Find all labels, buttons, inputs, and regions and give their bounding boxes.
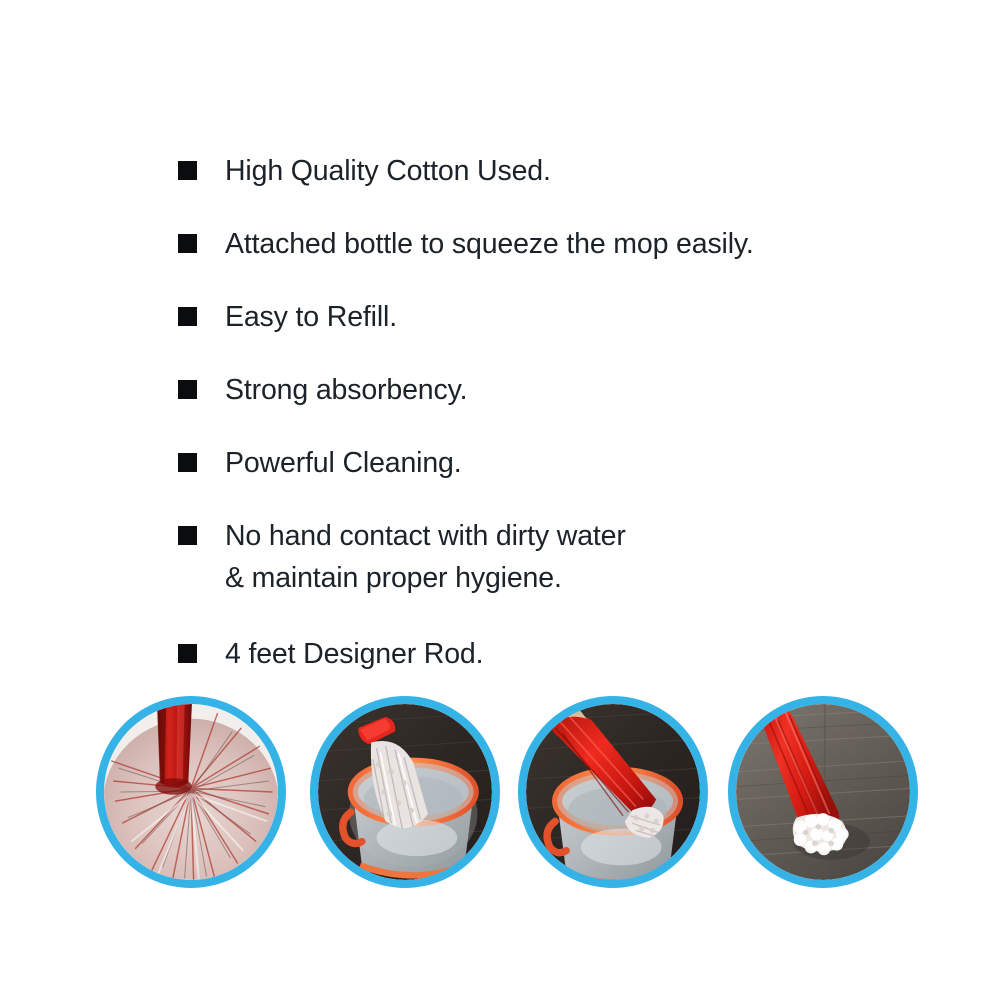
feature-item: Attached bottle to squeeze the mop easil…: [178, 223, 878, 265]
feature-item-label: Strong absorbency.: [225, 369, 467, 411]
square-bullet-icon: [178, 234, 197, 253]
feature-item-label: 4 feet Designer Rod.: [225, 633, 483, 675]
feature-item-label: High Quality Cotton Used.: [225, 150, 551, 192]
photo-image: [526, 704, 700, 880]
feature-item: High Quality Cotton Used.: [178, 150, 878, 192]
feature-item-label: Easy to Refill.: [225, 296, 397, 338]
feature-item: Powerful Cleaning.: [178, 442, 878, 484]
feature-item-label: Attached bottle to squeeze the mop easil…: [225, 223, 754, 265]
product-photo-mop-on-floor: [728, 696, 918, 888]
photo-image: [318, 704, 492, 880]
feature-item-label: Powerful Cleaning.: [225, 442, 462, 484]
square-bullet-icon: [178, 161, 197, 180]
feature-item: Easy to Refill.: [178, 296, 878, 338]
product-photo-mop-head-closeup: [96, 696, 286, 888]
feature-item-label: No hand contact with dirty water & maint…: [225, 515, 626, 599]
photo-image: [104, 704, 278, 880]
feature-item: 4 feet Designer Rod.: [178, 633, 878, 675]
product-photo-mop-in-bucket: [310, 696, 500, 888]
square-bullet-icon: [178, 380, 197, 399]
feature-item: No hand contact with dirty water & maint…: [178, 515, 878, 599]
feature-list: High Quality Cotton Used. Attached bottl…: [178, 150, 878, 706]
product-feature-graphic: High Quality Cotton Used. Attached bottl…: [0, 0, 1000, 1000]
square-bullet-icon: [178, 644, 197, 663]
square-bullet-icon: [178, 453, 197, 472]
photo-image: [736, 704, 910, 880]
product-photo-strip: [0, 694, 1000, 894]
square-bullet-icon: [178, 526, 197, 545]
feature-item: Strong absorbency.: [178, 369, 878, 411]
square-bullet-icon: [178, 307, 197, 326]
product-photo-mop-rod-on-bucket: [518, 696, 708, 888]
